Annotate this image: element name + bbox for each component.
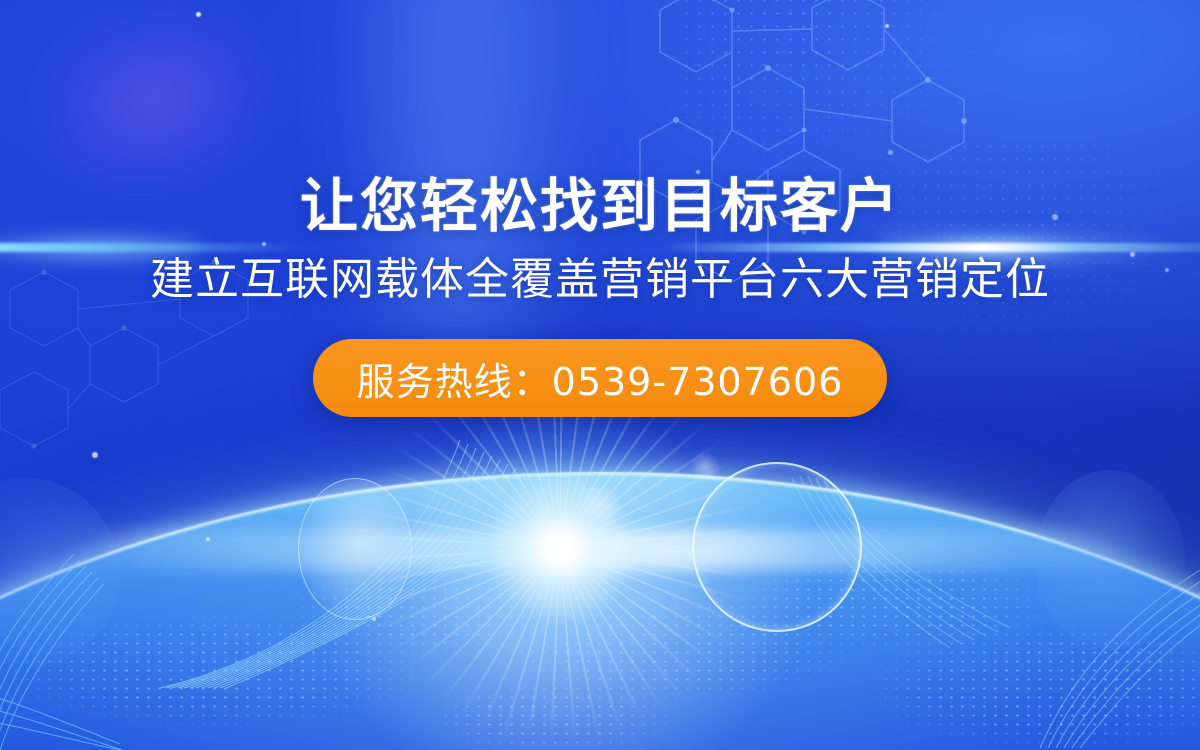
banner-content: 让您轻松找到目标客户 建立互联网载体全覆盖营销平台六大营销定位 服务热线：053… bbox=[0, 0, 1200, 750]
page-subtitle: 建立互联网载体全覆盖营销平台六大营销定位 bbox=[150, 257, 1050, 303]
hotline-button[interactable]: 服务热线：0539-7307606 bbox=[313, 339, 888, 417]
promo-banner: 让您轻松找到目标客户 建立互联网载体全覆盖营销平台六大营销定位 服务热线：053… bbox=[0, 0, 1200, 750]
page-title: 让您轻松找到目标客户 bbox=[300, 176, 900, 237]
